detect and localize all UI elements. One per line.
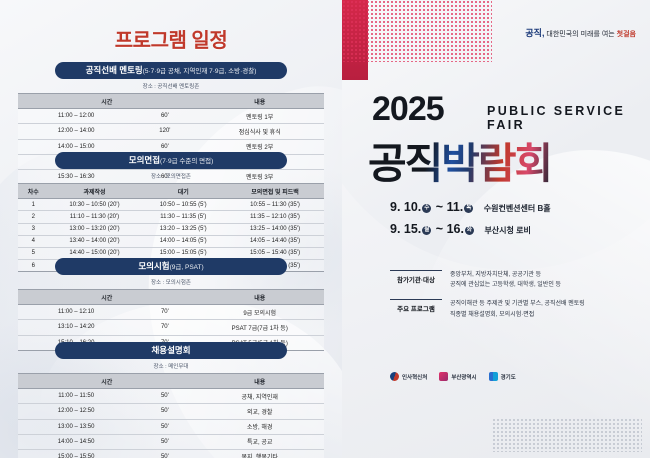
cell-wait: 10:50 – 10:55 (5') xyxy=(140,199,226,211)
cell-time: 13:00 – 13:50 xyxy=(18,419,134,434)
cell-time: 11:00 – 12:10 xyxy=(18,305,134,320)
table-row: 11:00 – 11:5050'공채, 지역인재 xyxy=(18,389,324,404)
table-row: 15:00 – 15:5050'복지, 행복기타 xyxy=(18,449,324,458)
section-name: 모의시험 xyxy=(138,261,169,271)
sponsor-logos: 인사혁신처 부산광역시 경기도 xyxy=(390,372,516,381)
logo-mpm: 인사혁신처 xyxy=(390,372,427,381)
section-sub: (5·7·9급 공채, 지역인재 7·9급, 소방·경찰) xyxy=(143,68,257,75)
cell-duration: 50' xyxy=(134,434,195,449)
cell-interview: 10:55 – 11:30 (35') xyxy=(226,199,324,211)
venue-name: 부산시청 로비 xyxy=(484,226,530,235)
cell-time: 12:00 – 12:50 xyxy=(18,404,134,419)
cell-time: 15:00 – 15:50 xyxy=(18,449,134,458)
date-row: 9. 15.월 ~ 16.화 부산시청 로비 xyxy=(390,222,640,236)
info-text: 중앙부처, 지방자치단체, 공공기관 등 공직에 관심있는 고등학생, 대학생,… xyxy=(442,270,630,290)
section-recruitment-briefing: 채용설명회 장소 : 메인무대 시간 내용 11:00 – 11:5050'공채… xyxy=(18,342,324,458)
cell-duration: 50' xyxy=(134,419,195,434)
poster: 프로그램 일정 공직선배 멘토링(5·7·9급 공채, 지역인재 7·9급, 소… xyxy=(0,0,650,458)
tagline-keyword: 공직, xyxy=(525,28,544,38)
program-schedule-title: 프로그램 일정 xyxy=(0,24,342,53)
day-badge: 수 xyxy=(422,204,431,213)
cell-content: 공채, 지역인재 xyxy=(195,389,324,404)
column-header: 시간 xyxy=(18,374,195,389)
column-header: 모의면접 및 피드백 xyxy=(226,184,324,199)
cell-round: 2 xyxy=(18,211,49,223)
cell-content: 멘토링 1부 xyxy=(195,109,324,124)
column-header: 대기 xyxy=(140,184,226,199)
logo-label: 경기도 xyxy=(501,373,516,381)
decorative-dot-pattern xyxy=(492,418,642,452)
cell-duration: 50' xyxy=(134,449,195,458)
brand-tagline: 공직, 대한민국의 미래를 여는 첫걸음 xyxy=(525,26,636,39)
column-header: 시간 xyxy=(18,94,195,109)
tagline-middle: 대한민국의 미래를 여는 xyxy=(546,31,614,38)
cell-content: 외교, 경찰 xyxy=(195,404,324,419)
cell-time: 14:00 – 14:50 xyxy=(18,434,134,449)
cell-duration: 60' xyxy=(134,109,195,124)
cell-round: 4 xyxy=(18,235,49,247)
korea-emblem-icon xyxy=(390,372,399,381)
cell-content: 9급 모의시험 xyxy=(195,305,324,320)
cell-wait: 13:20 – 13:25 (5') xyxy=(140,223,226,235)
info-line: 직종별 채용설명회, 모의시험·면접 xyxy=(450,310,630,320)
logo-busan: 부산광역시 xyxy=(439,372,476,381)
cell-content: 특교, 공교 xyxy=(195,434,324,449)
cell-task: 10:30 – 10:50 (20') xyxy=(49,199,141,211)
schedule-table: 시간 내용 11:00 – 11:5050'공채, 지역인재 12:00 – 1… xyxy=(18,373,324,458)
info-line: 공직이해관 등 주제관 및 기관별 부스, 공직선배 멘토링 xyxy=(450,299,630,309)
decorative-dot-pattern xyxy=(342,0,492,62)
table-row: 110:30 – 10:50 (20')10:50 – 10:55 (5')10… xyxy=(18,199,324,211)
column-header: 과제작성 xyxy=(49,184,141,199)
logo-label: 부산광역시 xyxy=(451,373,476,381)
cell-interview: 14:05 – 14:40 (35') xyxy=(226,235,324,247)
section-mock-exam: 모의시험(9급, PSAT) 장소 : 모의시험존 시간 내용 11:00 – … xyxy=(18,258,324,351)
section-header: 공직선배 멘토링(5·7·9급 공채, 지역인재 7·9급, 소방·경찰) xyxy=(55,62,287,79)
cell-round: 1 xyxy=(18,199,49,211)
section-sub: (9급, PSAT) xyxy=(170,264,204,271)
column-header: 차수 xyxy=(18,184,49,199)
section-place: 장소 : 모의면접존 xyxy=(18,172,324,180)
table-row: 11:00 – 12:1070'9급 모의시험 xyxy=(18,305,324,320)
cell-time: 11:00 – 11:50 xyxy=(18,389,134,404)
cell-wait: 14:00 – 14:05 (5') xyxy=(140,235,226,247)
info-row-participants: 참가기관·대상 중앙부처, 지방자치단체, 공공기관 등 공직에 관심있는 고등… xyxy=(390,270,630,290)
date-row: 9. 10.수 ~ 11.목 수원컨벤션센터 B홀 xyxy=(390,200,640,214)
cell-interview: 13:25 – 14:00 (35') xyxy=(226,223,324,235)
info-line: 중앙부처, 지방자치단체, 공공기관 등 xyxy=(450,270,630,280)
table-row: 313:00 – 13:20 (20')13:20 – 13:25 (5')13… xyxy=(18,223,324,235)
info-line: 공직에 관심있는 고등학생, 대학생, 일반인 등 xyxy=(450,280,630,290)
section-name: 공직선배 멘토링 xyxy=(86,65,143,75)
day-badge: 화 xyxy=(465,226,474,235)
cell-duration: 50' xyxy=(134,389,195,404)
gyeonggi-logo-icon xyxy=(489,372,498,381)
event-main-title: 공직박람회 xyxy=(368,130,551,191)
section-place: 장소 : 공직선배 멘토링존 xyxy=(18,82,324,90)
table-row: 13:00 – 13:5050'소방, 해경 xyxy=(18,419,324,434)
table-row: 413:40 – 14:00 (20')14:00 – 14:05 (5')14… xyxy=(18,235,324,247)
table-row: 11:00 – 12:0060'멘토링 1부 xyxy=(18,109,324,124)
section-place: 장소 : 메인무대 xyxy=(18,362,324,370)
section-name: 모의면접 xyxy=(129,155,160,165)
cell-content: 소방, 해경 xyxy=(195,419,324,434)
logo-label: 인사혁신처 xyxy=(402,373,427,381)
program-schedule-panel: 프로그램 일정 공직선배 멘토링(5·7·9급 공채, 지역인재 7·9급, 소… xyxy=(0,0,342,458)
cell-task: 13:40 – 14:00 (20') xyxy=(49,235,141,247)
cell-duration: 70' xyxy=(134,305,195,320)
cell-content: 복지, 행복기타 xyxy=(195,449,324,458)
cell-round: 3 xyxy=(18,223,49,235)
column-header: 내용 xyxy=(195,374,324,389)
section-mock-interview: 모의면접(7·9급 수준의 면접) 장소 : 모의면접존 차수 과제작성 대기 … xyxy=(18,152,324,272)
cell-time: 13:10 – 14:20 xyxy=(18,320,134,335)
info-row-programs: 주요 프로그램 공직이해관 등 주제관 및 기관별 부스, 공직선배 멘토링 직… xyxy=(390,299,630,319)
table-row: 12:00 – 14:00120'점심식사 및 휴식 xyxy=(18,124,324,139)
cell-task: 13:00 – 13:20 (20') xyxy=(49,223,141,235)
date-separator: ~ xyxy=(436,222,443,236)
column-header: 시간 xyxy=(18,290,195,305)
date-start: 9. 15. xyxy=(390,222,421,236)
info-label: 주요 프로그램 xyxy=(390,299,442,313)
section-header: 채용설명회 xyxy=(55,342,287,359)
event-info: 참가기관·대상 중앙부처, 지방자치단체, 공공기관 등 공직에 관심있는 고등… xyxy=(390,270,630,329)
section-header: 모의시험(9급, PSAT) xyxy=(55,258,287,275)
section-sub: (7·9급 수준의 면접) xyxy=(160,158,213,165)
cell-content: 점심식사 및 휴식 xyxy=(195,124,324,139)
table-row: 13:10 – 14:2070'PSAT 7급(7급 1차 등) xyxy=(18,320,324,335)
cell-duration: 50' xyxy=(134,404,195,419)
info-label: 참가기관·대상 xyxy=(390,270,442,284)
table-row: 12:00 – 12:5050'외교, 경찰 xyxy=(18,404,324,419)
info-text: 공직이해관 등 주제관 및 기관별 부스, 공직선배 멘토링 직종별 채용설명회… xyxy=(442,299,630,319)
date-separator: ~ xyxy=(436,200,443,214)
cell-content: PSAT 7급(7급 1차 등) xyxy=(195,320,324,335)
table-row: 14:00 – 14:5050'특교, 공교 xyxy=(18,434,324,449)
table-header-row: 시간 내용 xyxy=(18,374,324,389)
table-header-row: 시간 내용 xyxy=(18,94,324,109)
cell-time: 12:00 – 14:00 xyxy=(18,124,134,139)
section-place: 장소 : 모의시험존 xyxy=(18,278,324,286)
column-header: 내용 xyxy=(195,290,324,305)
cell-time: 11:00 – 12:00 xyxy=(18,109,134,124)
event-english-title: PUBLIC SERVICE FAIR xyxy=(487,104,650,132)
tagline-highlight: 첫걸음 xyxy=(617,31,636,38)
date-start: 9. 10. xyxy=(390,200,421,214)
cell-duration: 70' xyxy=(134,320,195,335)
section-name: 채용설명회 xyxy=(151,345,190,355)
section-header: 모의면접(7·9급 수준의 면접) xyxy=(55,152,287,169)
venue-name: 수원컨벤션센터 B홀 xyxy=(484,204,551,213)
table-row: 211:10 – 11:30 (20')11:30 – 11:35 (5')11… xyxy=(18,211,324,223)
cell-duration: 120' xyxy=(134,124,195,139)
date-end: 16. xyxy=(447,222,464,236)
event-dates: 9. 10.수 ~ 11.목 수원컨벤션센터 B홀 9. 15.월 ~ 16.화… xyxy=(390,200,640,244)
busan-logo-icon xyxy=(439,372,448,381)
table-header-row: 시간 내용 xyxy=(18,290,324,305)
event-poster-panel: 공직, 대한민국의 미래를 여는 첫걸음 2025 PUBLIC SERVICE… xyxy=(342,0,650,458)
cell-wait: 11:30 – 11:35 (5') xyxy=(140,211,226,223)
date-end: 11. xyxy=(447,200,464,214)
logo-gyeonggi: 경기도 xyxy=(489,372,516,381)
table-header-row: 차수 과제작성 대기 모의면접 및 피드백 xyxy=(18,184,324,199)
day-badge: 월 xyxy=(422,226,431,235)
day-badge: 목 xyxy=(464,204,473,213)
cell-interview: 11:35 – 12:10 (35') xyxy=(226,211,324,223)
column-header: 내용 xyxy=(195,94,324,109)
cell-task: 11:10 – 11:30 (20') xyxy=(49,211,141,223)
event-year: 2025 xyxy=(372,90,444,129)
